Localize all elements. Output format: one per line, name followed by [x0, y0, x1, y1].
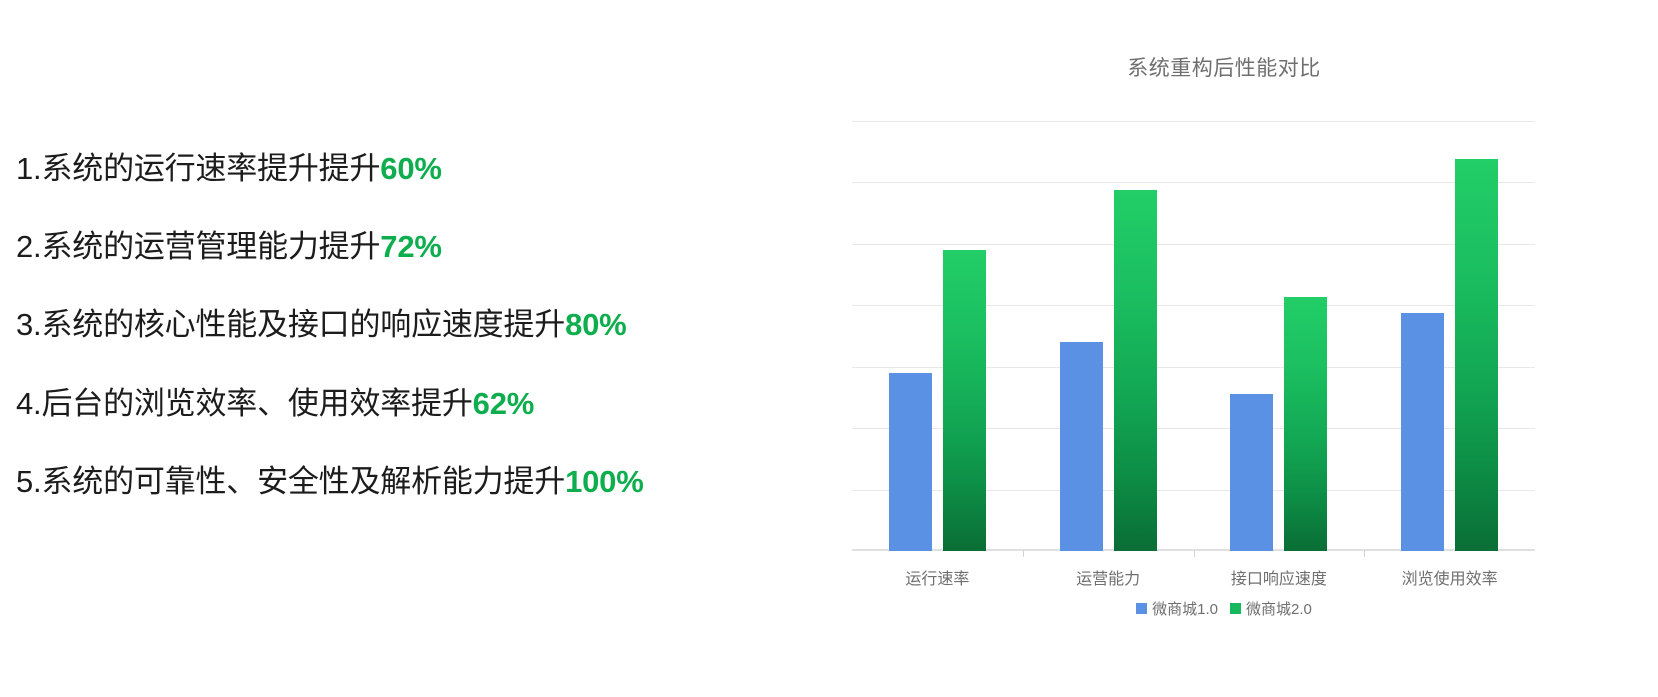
- list-item-percent: 72%: [380, 229, 441, 264]
- bar-微商城2.0-接口响应速度: [1284, 297, 1327, 551]
- chart-title: 系统重构后性能对比: [790, 52, 1658, 82]
- list-item-number: 1.: [16, 151, 41, 186]
- x-axis-label-1: 运行速率: [852, 565, 1023, 589]
- list-item-percent: 62%: [473, 386, 534, 421]
- bar-微商城1.0-接口响应速度: [1230, 394, 1273, 551]
- axis-tick: [1023, 550, 1024, 557]
- legend-item-1[interactable]: 微商城1.0: [1136, 598, 1218, 619]
- bar-微商城2.0-运行速率: [943, 250, 986, 551]
- bar-微商城1.0-浏览使用效率: [1401, 313, 1444, 551]
- bar-微商城2.0-浏览使用效率: [1455, 159, 1498, 551]
- list-item-percent: 80%: [565, 307, 626, 342]
- list-item-number: 3.: [16, 307, 41, 342]
- achievement-list: 1.系统的运行速率提升提升60% 2.系统的运营管理能力提升72% 3.系统的核…: [16, 150, 776, 500]
- chart-legend: 微商城1.0微商城2.0: [790, 598, 1658, 619]
- list-item-text: 系统的可靠性、安全性及解析能力提升: [41, 464, 565, 499]
- list-item-text: 后台的浏览效率、使用效率提升: [41, 386, 472, 421]
- list-item-percent: 60%: [380, 151, 441, 186]
- list-item: 1.系统的运行速率提升提升60%: [16, 150, 776, 187]
- bar-微商城1.0-运营能力: [1060, 342, 1103, 551]
- list-item-number: 2.: [16, 229, 41, 264]
- list-item-text: 系统的运营管理能力提升: [41, 229, 380, 264]
- axis-tick: [1194, 550, 1195, 557]
- x-axis-label-2: 运营能力: [1023, 565, 1194, 589]
- legend-swatch-icon: [1230, 603, 1241, 614]
- list-item-text: 系统的运行速率提升提升: [41, 151, 380, 186]
- slide-canvas: 1.系统的运行速率提升提升60% 2.系统的运营管理能力提升72% 3.系统的核…: [0, 0, 1658, 697]
- list-item: 3.系统的核心性能及接口的响应速度提升80%: [16, 306, 776, 343]
- legend-swatch-icon: [1136, 603, 1147, 614]
- bar-微商城1.0-运行速率: [889, 373, 932, 551]
- axis-tick: [1364, 550, 1365, 557]
- chart-plot-area: [852, 121, 1535, 551]
- legend-item-2[interactable]: 微商城2.0: [1230, 598, 1312, 619]
- x-axis-label-4: 浏览使用效率: [1364, 565, 1535, 589]
- x-axis-label-3: 接口响应速度: [1194, 565, 1365, 589]
- gridline: [852, 121, 1535, 122]
- bar-微商城2.0-运营能力: [1114, 190, 1157, 551]
- legend-label: 微商城2.0: [1246, 598, 1312, 619]
- list-item: 2.系统的运营管理能力提升72%: [16, 228, 776, 265]
- gridline: [852, 182, 1535, 183]
- list-item: 5.系统的可靠性、安全性及解析能力提升100%: [16, 463, 776, 500]
- list-item-text: 系统的核心性能及接口的响应速度提升: [41, 307, 565, 342]
- bullet-panel: 1.系统的运行速率提升提升60% 2.系统的运营管理能力提升72% 3.系统的核…: [0, 0, 790, 697]
- legend-label: 微商城1.0: [1152, 598, 1218, 619]
- list-item: 4.后台的浏览效率、使用效率提升62%: [16, 385, 776, 422]
- list-item-percent: 100%: [565, 464, 644, 499]
- chart-panel: 系统重构后性能对比 微商城1.0微商城2.0 运行速率运营能力接口响应速度浏览使…: [790, 0, 1658, 697]
- list-item-number: 4.: [16, 386, 41, 421]
- list-item-number: 5.: [16, 464, 41, 499]
- gridline: [852, 244, 1535, 245]
